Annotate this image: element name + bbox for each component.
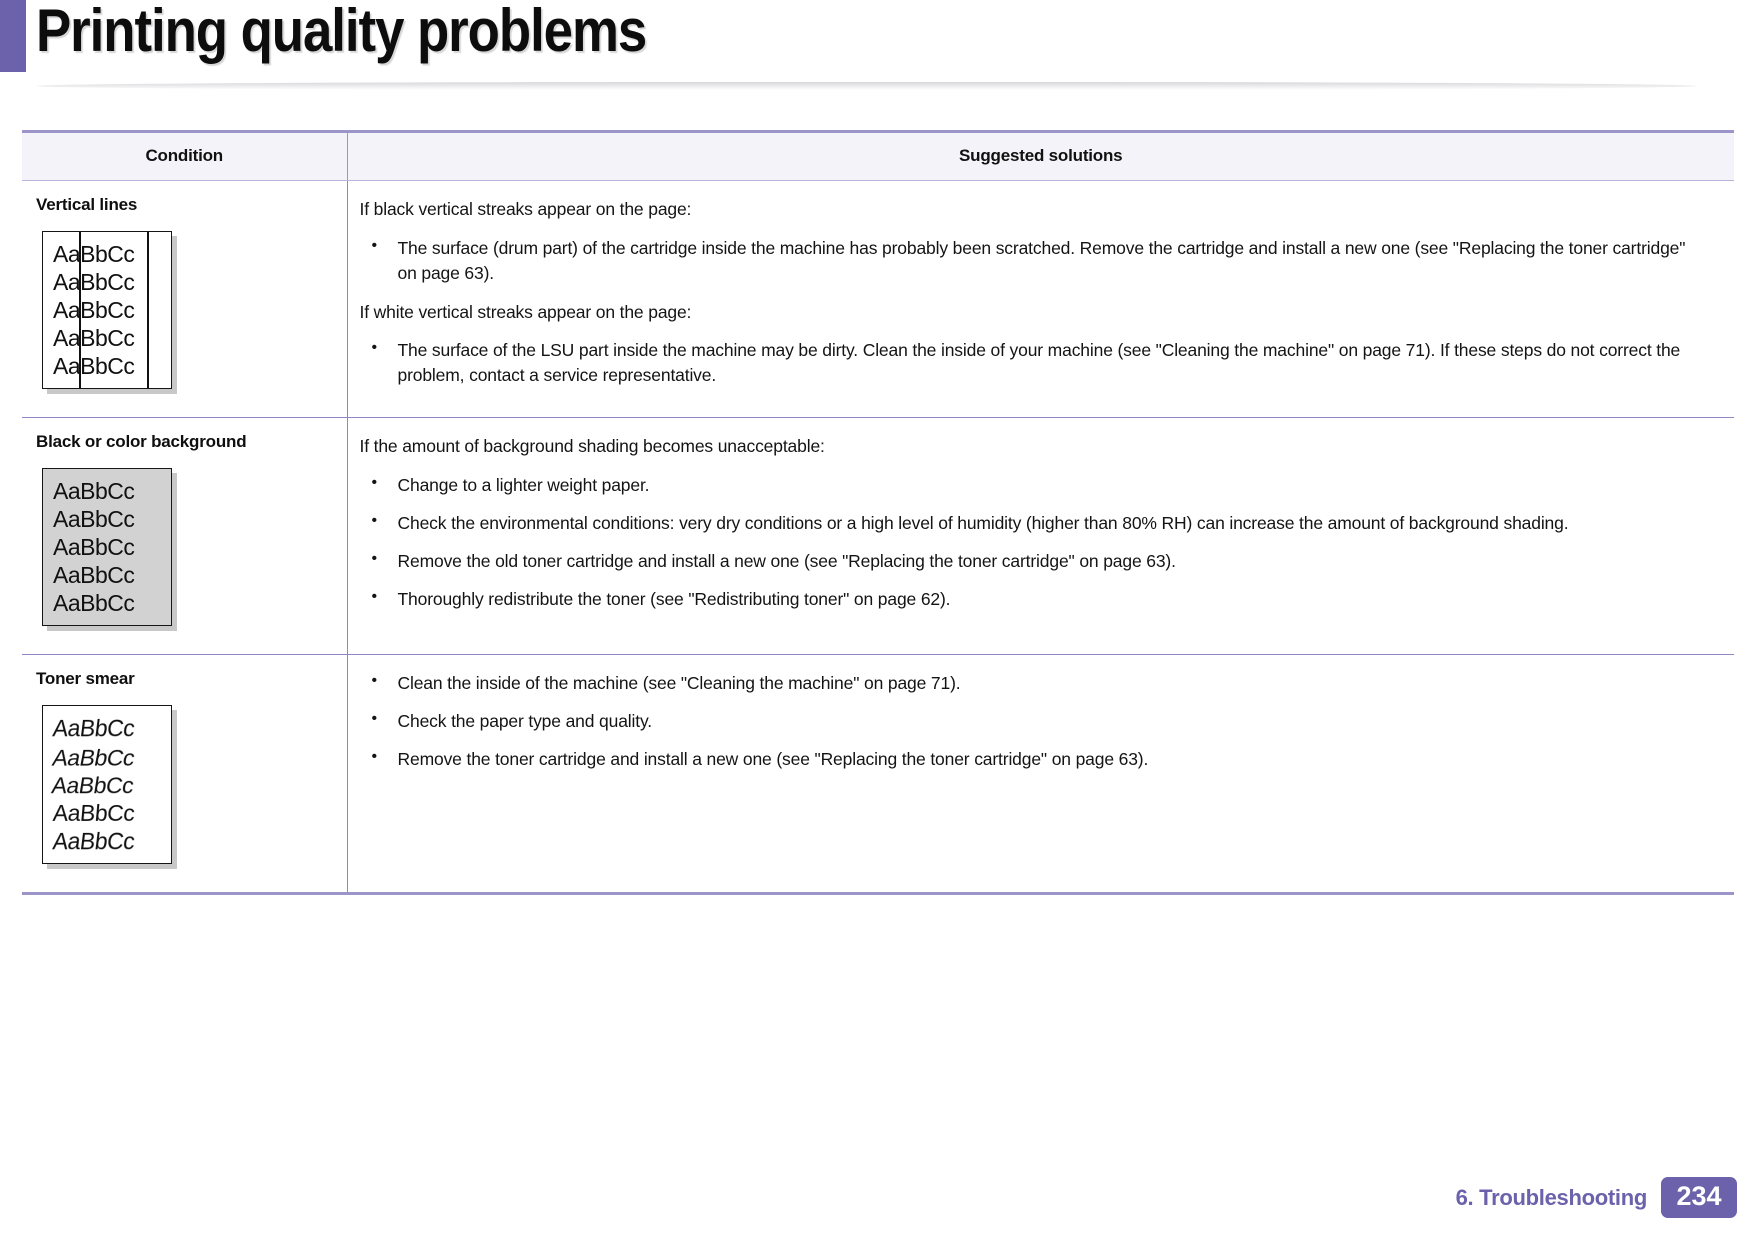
sample-text-line: AaBbCc <box>53 771 167 799</box>
solution-bullet-list: The surface of the LSU part inside the m… <box>360 338 1709 388</box>
spacer <box>360 286 1709 300</box>
solution-bullet: Thoroughly redistribute the toner (see "… <box>360 587 1709 612</box>
column-header-condition: Condition <box>22 132 347 181</box>
footer-page-number: 234 <box>1661 1177 1737 1218</box>
sample-text-line: AaBbCc <box>53 352 167 380</box>
solution-bullet: The surface (drum part) of the cartridge… <box>360 236 1709 286</box>
condition-label: Toner smear <box>36 669 337 689</box>
solution-cell: If the amount of background shading beco… <box>347 418 1734 655</box>
table-row: Toner smear AaBbCc AaBbCc AaBbCc AaBbCc … <box>22 655 1734 893</box>
table-row: Black or color background AaBbCc AaBbCc … <box>22 418 1734 655</box>
sample-text: AaBbCc <box>51 714 136 743</box>
solution-intro: If white vertical streaks appear on the … <box>360 300 1709 325</box>
table-header-row: Condition Suggested solutions <box>22 132 1734 181</box>
sample-text: AaBbCc <box>51 826 136 855</box>
table-body: Vertical lines AaBbCc AaBbCc AaBbCc AaBb… <box>22 181 1734 894</box>
solution-cell: Clean the inside of the machine (see "Cl… <box>347 655 1734 893</box>
sample-text-line: AaBbCc <box>53 324 167 352</box>
toner-smear-sample-image: AaBbCc AaBbCc AaBbCc AaBbCc AaBbCc <box>42 705 172 863</box>
title-underline-shadow <box>36 82 1696 90</box>
vertical-lines-sample-image: AaBbCc AaBbCc AaBbCc AaBbCc AaBbCc <box>42 231 172 389</box>
solution-bullet-list: Clean the inside of the machine (see "Cl… <box>360 671 1709 772</box>
solution-bullet: The surface of the LSU part inside the m… <box>360 338 1709 388</box>
table-header: Condition Suggested solutions <box>22 132 1734 181</box>
sample-text-line: AaBbCc <box>53 827 167 855</box>
condition-label: Black or color background <box>36 432 337 452</box>
solution-intro: If black vertical streaks appear on the … <box>360 197 1709 222</box>
sample-text-line: AaBbCc <box>53 533 167 561</box>
sample-text-line: AaBbCc <box>53 240 167 268</box>
solution-bullet: Remove the toner cartridge and install a… <box>360 747 1709 772</box>
sample-text-line: AaBbCc <box>53 268 167 296</box>
solution-intro: If the amount of background shading beco… <box>360 434 1709 459</box>
solution-bullet-list: The surface (drum part) of the cartridge… <box>360 236 1709 286</box>
solution-cell: If black vertical streaks appear on the … <box>347 181 1734 418</box>
footer-chapter-label: 6. Troubleshooting <box>1456 1185 1647 1211</box>
page-footer: 6. Troubleshooting 234 <box>1456 1177 1737 1218</box>
vertical-streak-icon <box>147 232 149 388</box>
solution-bullet-list: Change to a lighter weight paper. Check … <box>360 473 1709 611</box>
solution-bullet: Check the paper type and quality. <box>360 709 1709 734</box>
sample-text-line: AaBbCc <box>53 477 167 505</box>
sample-text: AaBbCc <box>50 771 136 799</box>
sample-text-line: AaBbCc <box>53 561 167 589</box>
solution-bullet: Clean the inside of the machine (see "Cl… <box>360 671 1709 696</box>
solution-bullet: Change to a lighter weight paper. <box>360 473 1709 498</box>
table-row: Vertical lines AaBbCc AaBbCc AaBbCc AaBb… <box>22 181 1734 418</box>
sample-text: AaBbCc <box>50 743 137 771</box>
shaded-background-sample-image: AaBbCc AaBbCc AaBbCc AaBbCc AaBbCc <box>42 468 172 626</box>
condition-cell: Vertical lines AaBbCc AaBbCc AaBbCc AaBb… <box>22 181 347 418</box>
condition-label: Vertical lines <box>36 195 337 215</box>
condition-cell: Black or color background AaBbCc AaBbCc … <box>22 418 347 655</box>
sample-text-line: AaBbCc <box>53 589 167 617</box>
vertical-streak-icon <box>79 232 81 388</box>
column-header-solutions: Suggested solutions <box>347 132 1734 181</box>
sample-text-line: AaBbCc <box>53 799 167 827</box>
solution-bullet: Remove the old toner cartridge and insta… <box>360 549 1709 574</box>
sample-text: AaBbCc <box>52 799 136 827</box>
sample-text-line: AaBbCc <box>53 505 167 533</box>
title-accent-bar <box>0 0 26 72</box>
solution-bullet: Check the environmental conditions: very… <box>360 511 1709 536</box>
quality-problems-table: Condition Suggested solutions Vertical l… <box>22 130 1734 895</box>
page-title: Printing quality problems <box>36 0 646 65</box>
sample-text-line: AaBbCc <box>53 714 167 742</box>
sample-text-line: AaBbCc <box>53 743 167 771</box>
condition-cell: Toner smear AaBbCc AaBbCc AaBbCc AaBbCc … <box>22 655 347 893</box>
sample-text-line: AaBbCc <box>53 296 167 324</box>
quality-problems-table-wrapper: Condition Suggested solutions Vertical l… <box>22 130 1734 895</box>
